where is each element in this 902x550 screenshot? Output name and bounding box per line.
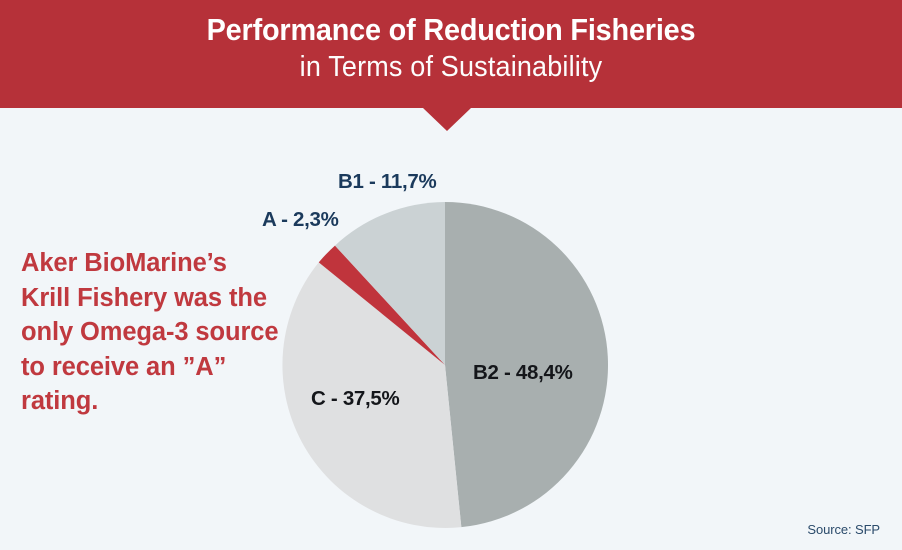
pie-label-c: C - 37,5% — [311, 387, 400, 410]
pie-label-a: A - 2,3% — [262, 208, 339, 231]
source-attribution: Source: SFP — [807, 522, 880, 537]
pie-label-b1: B1 - 11,7% — [338, 170, 436, 193]
pie-chart: B1 - 11,7% A - 2,3% C - 37,5% B2 - 48,4% — [0, 0, 902, 550]
pie-chart-svg: B1 - 11,7% A - 2,3% C - 37,5% B2 - 48,4% — [0, 0, 902, 550]
pie-label-b2: B2 - 48,4% — [473, 361, 573, 384]
